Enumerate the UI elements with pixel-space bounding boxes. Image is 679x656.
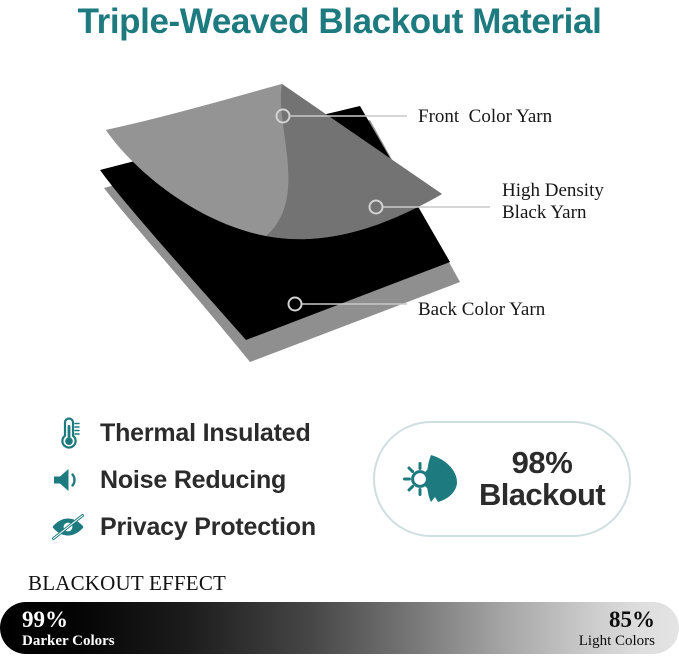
blackout-effect-heading: BLACKOUT EFFECT bbox=[28, 571, 226, 596]
feature-item-privacy-protection: Privacy Protection bbox=[48, 504, 358, 550]
callout-label-front-color-yarn: Front Color Yarn bbox=[418, 106, 552, 128]
sun-blocked-by-curtain-icon bbox=[399, 446, 465, 512]
light-colors-caption: Light Colors bbox=[579, 631, 655, 651]
eye-slash-icon bbox=[48, 507, 88, 547]
blackout-effect-left-stat: 99% Darker Colors bbox=[22, 608, 115, 651]
darker-colors-percent: 99% bbox=[22, 608, 115, 631]
feature-list: Thermal Insulated Noise Reducing Privacy… bbox=[48, 410, 358, 551]
darker-colors-caption: Darker Colors bbox=[22, 631, 115, 651]
callout-label-back-color-yarn: Back Color Yarn bbox=[418, 299, 545, 321]
blackout-effect-gradient-bar: 99% Darker Colors 85% Light Colors bbox=[0, 602, 679, 654]
light-colors-percent: 85% bbox=[579, 608, 655, 631]
speaker-sound-icon bbox=[48, 460, 88, 500]
blackout-badge-text: 98% Blackout bbox=[479, 447, 605, 511]
page-title: Triple-Weaved Blackout Material bbox=[0, 2, 679, 42]
callout-label-line2: Black Yarn bbox=[502, 202, 586, 223]
layered-fabric-diagram bbox=[60, 72, 480, 362]
blackout-badge: 98% Blackout bbox=[373, 421, 631, 537]
feature-label-privacy-protection: Privacy Protection bbox=[100, 513, 316, 542]
feature-label-thermal-insulated: Thermal Insulated bbox=[100, 419, 311, 448]
blackout-badge-percent: 98% bbox=[479, 447, 605, 479]
feature-label-noise-reducing: Noise Reducing bbox=[100, 466, 286, 495]
callout-label-high-density-black-yarn: High DensityBlack Yarn bbox=[502, 180, 604, 224]
feature-item-thermal-insulated: Thermal Insulated bbox=[48, 410, 358, 456]
callout-label-line1: High Density bbox=[502, 180, 604, 201]
feature-item-noise-reducing: Noise Reducing bbox=[48, 457, 358, 503]
blackout-badge-word: Blackout bbox=[479, 479, 605, 511]
blackout-effect-right-stat: 85% Light Colors bbox=[579, 608, 655, 651]
thermometer-icon bbox=[48, 413, 88, 453]
